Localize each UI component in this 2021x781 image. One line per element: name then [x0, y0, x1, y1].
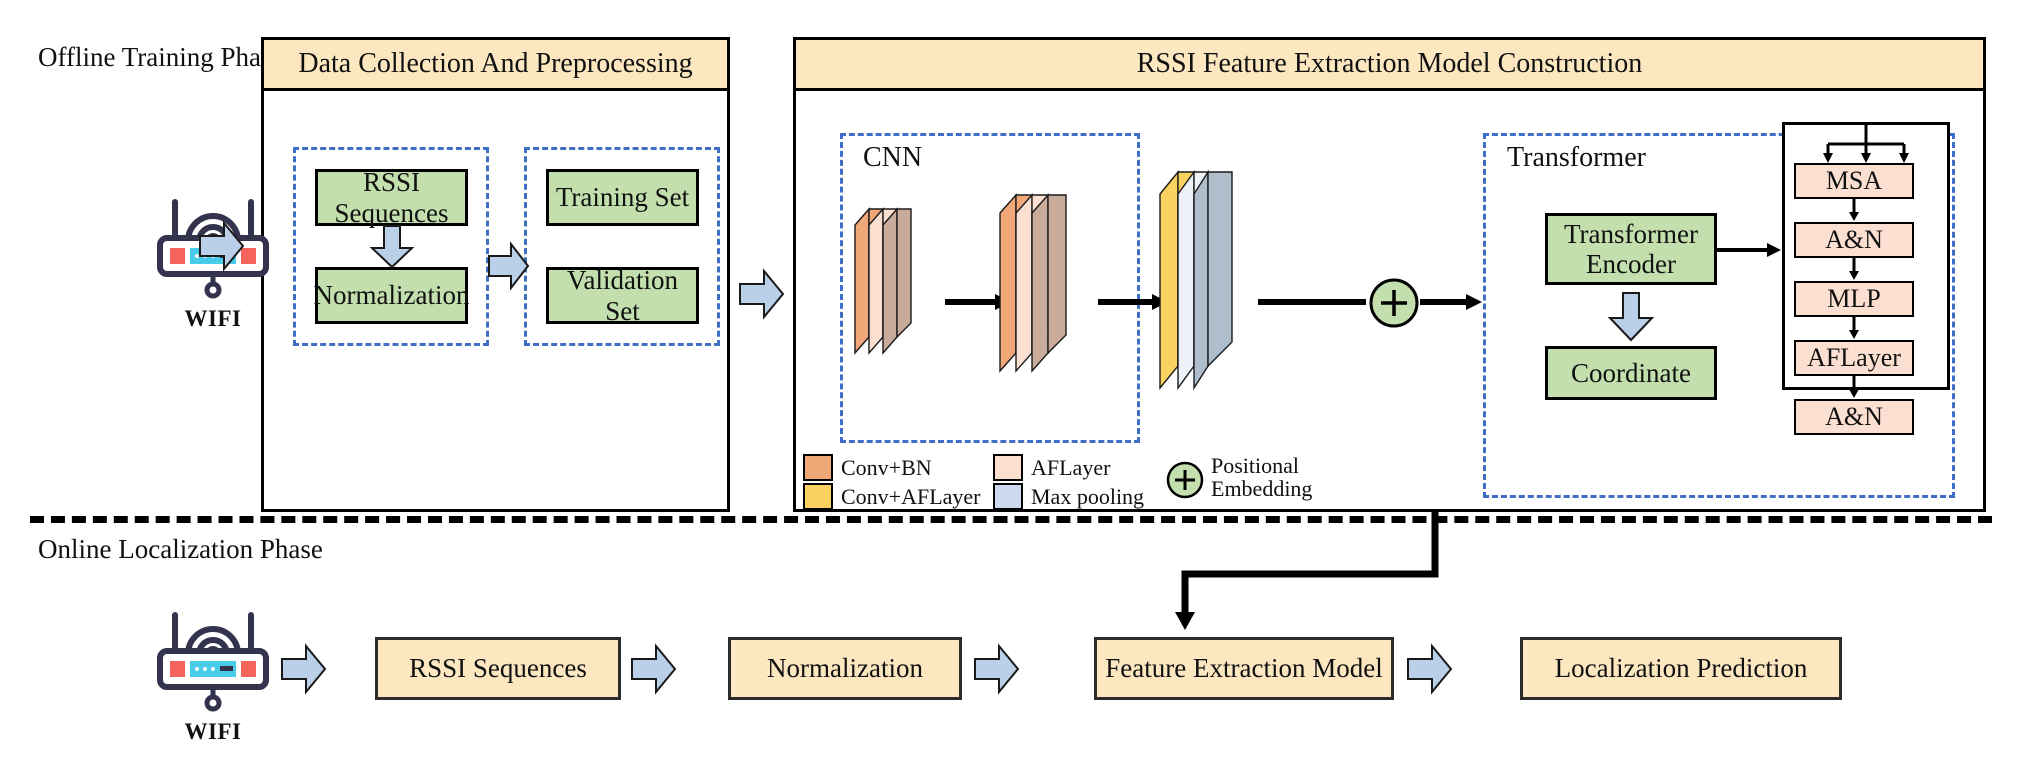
- legend-swatch-aflayer: [993, 454, 1023, 481]
- legend-swatch-conv-bn: [803, 454, 833, 481]
- legend-label-conv-aflayer: Conv+AFLayer: [841, 485, 981, 508]
- online-box-localization-prediction: Localization Prediction: [1520, 637, 1842, 700]
- feature-model-header: RSSI Feature Extraction Model Constructi…: [793, 37, 1986, 91]
- legend-positional-embedding-icon: [1165, 460, 1205, 500]
- transformer-label: Transformer: [1507, 142, 1646, 174]
- online-box-rssi-sequences: RSSI Sequences: [375, 637, 621, 700]
- validation-set-box: Validation Set: [546, 267, 699, 324]
- normalization-box: Normalization: [315, 267, 468, 324]
- tf-box-mlp: MLP: [1794, 281, 1914, 317]
- phase-divider: [30, 516, 1992, 523]
- tf-box-an-1: A&N: [1794, 222, 1914, 258]
- legend-label-max-pooling: Max pooling: [1031, 485, 1144, 508]
- down-arrow-encoder-to-coordinate: [1607, 293, 1655, 341]
- arrow-feature-model-to-prediction-online: [1408, 645, 1452, 693]
- wifi-caption-offline: WIFI: [152, 306, 274, 332]
- arrow-plus-to-transformer: [1420, 292, 1482, 312]
- arrow-data-collection-to-feature-model: [740, 270, 784, 318]
- tf-box-aflayer: AFLayer: [1794, 340, 1914, 376]
- wifi-caption-online: WIFI: [152, 719, 274, 745]
- tf-box-msa: MSA: [1794, 163, 1914, 199]
- cnn-arrow-3: [1258, 292, 1366, 312]
- tf-box-an-2: A&N: [1794, 399, 1914, 435]
- legend-swatch-max-pooling: [993, 483, 1023, 510]
- online-box-feature-extraction-model: Feature Extraction Model: [1094, 637, 1394, 700]
- tf-arrow-aflayer-to-an: [1846, 376, 1862, 399]
- cnn-block-3: [1160, 156, 1310, 396]
- legend-swatch-conv-aflayer: [803, 483, 833, 510]
- legend-label-conv-bn: Conv+BN: [841, 456, 932, 479]
- cnn-label: CNN: [863, 142, 922, 174]
- connector-model-to-feature-extraction: [1080, 512, 1500, 632]
- data-collection-header: Data Collection And Preprocessing: [261, 37, 730, 91]
- online-box-normalization: Normalization: [728, 637, 962, 700]
- tf-arrow-msa-to-an: [1846, 199, 1862, 222]
- transformer-encoder-box: Transformer Encoder: [1545, 213, 1717, 285]
- tf-arrow-mlp-to-aflayer: [1846, 317, 1862, 340]
- legend-label-positional-embedding: Positional Embedding: [1211, 454, 1312, 500]
- arrow-preprocessing-to-dataset: [489, 243, 529, 289]
- offline-phase-label: Offline Training Phase: [38, 42, 284, 73]
- arrow-wifi-to-data-collection: [200, 222, 244, 270]
- cnn-legend: Conv+BN Conv+AFLayer AFLayer Max pooling…: [803, 452, 1403, 510]
- wifi-router-icon-online: [152, 601, 274, 713]
- legend-label-aflayer: AFLayer: [1031, 456, 1110, 479]
- arrow-encoder-to-stack: [1717, 240, 1783, 260]
- positional-embedding-node: [1368, 277, 1420, 329]
- cnn-block-1: [855, 197, 965, 357]
- cnn-arrow-2: [1098, 292, 1168, 312]
- arrow-normalization-to-feature-model-online: [975, 645, 1019, 693]
- rssi-sequences-box: RSSI Sequences: [315, 169, 468, 226]
- tf-arrow-an-to-mlp: [1846, 258, 1862, 281]
- coordinate-box: Coordinate: [1545, 346, 1717, 400]
- arrow-rssi-to-normalization-online: [632, 645, 676, 693]
- online-phase-label: Online Localization Phase: [38, 534, 323, 565]
- diagram-canvas: Offline Training Phase Online Localizati…: [0, 0, 2021, 781]
- cnn-block-2: [1000, 181, 1130, 376]
- training-set-box: Training Set: [546, 169, 699, 226]
- down-arrow-preprocessing: [369, 226, 415, 268]
- arrow-wifi-to-rssi-online: [282, 645, 326, 693]
